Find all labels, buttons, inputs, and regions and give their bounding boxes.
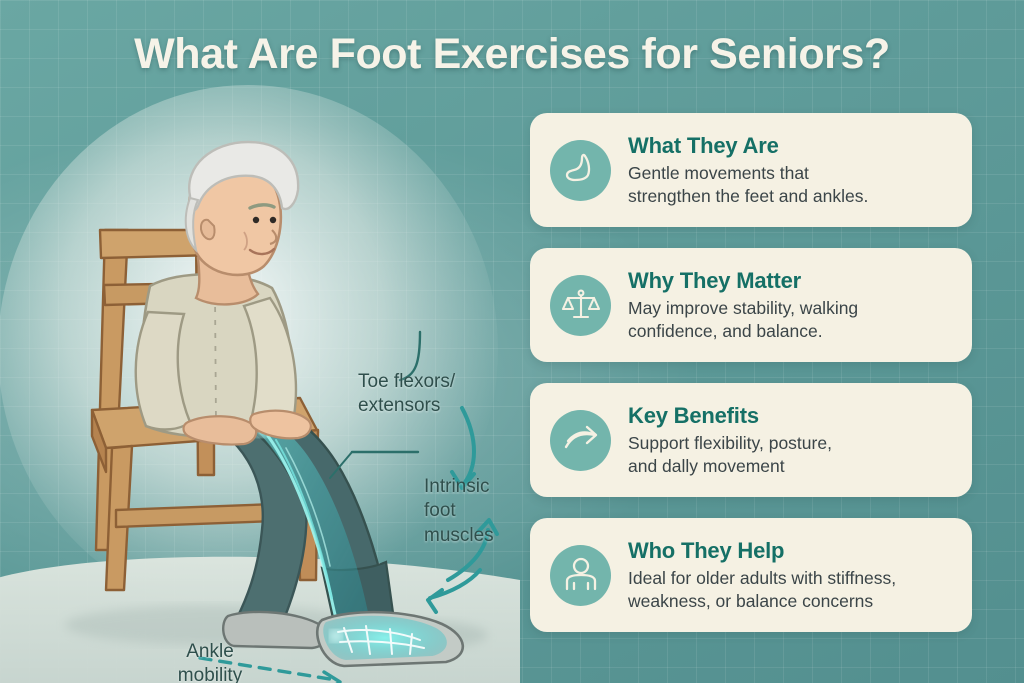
card-body-line1: Gentle movements that <box>628 162 954 184</box>
card-body-line2: and dally movement <box>628 455 954 477</box>
card-body: May improve stability, walking confidenc… <box>628 297 954 341</box>
annotation-intrinsic-line1: Intrinsic <box>424 475 520 499</box>
card-body-line2: confidence, and balance. <box>628 320 954 342</box>
annotation-intrinsic-foot-muscles: Intrinsic foot muscles <box>424 475 520 548</box>
card-title: Key Benefits <box>628 403 954 429</box>
person-icon <box>550 545 611 606</box>
info-card-who-they-help[interactable]: Who They Help Ideal for older adults wit… <box>530 518 972 632</box>
annotation-intrinsic-line3: muscles <box>424 524 520 548</box>
card-body: Ideal for older adults with stiffness, w… <box>628 567 954 611</box>
info-card-list: What They Are Gentle movements that stre… <box>530 113 972 653</box>
annotation-ankle-mobility: Ankle mobility <box>150 640 270 683</box>
page-title: What Are Foot Exercises for Seniors? <box>0 30 1024 79</box>
illustration-panel: Toe flexors/ extensors Intrinsic foot mu… <box>0 80 520 683</box>
info-card-key-benefits[interactable]: Key Benefits Support flexibility, postur… <box>530 383 972 497</box>
annotation-ankle-line1: Ankle <box>150 640 270 664</box>
card-body: Support flexibility, posture, and dally … <box>628 432 954 476</box>
card-body-line1: May improve stability, walking <box>628 297 954 319</box>
balance-scale-icon <box>550 275 611 336</box>
card-body-line1: Ideal for older adults with stiffness, <box>628 567 954 589</box>
card-body-line1: Support flexibility, posture, <box>628 432 954 454</box>
card-text: Who They Help Ideal for older adults wit… <box>628 538 954 611</box>
annotation-toe-flexors-line1: Toe flexors/ <box>358 370 498 394</box>
card-text: Key Benefits Support flexibility, postur… <box>628 403 954 476</box>
curved-arrow-icon <box>550 410 611 471</box>
info-card-what-they-are[interactable]: What They Are Gentle movements that stre… <box>530 113 972 227</box>
foot-icon <box>550 140 611 201</box>
annotation-ankle-line2: mobility <box>150 664 270 683</box>
card-text: Why They Matter May improve stability, w… <box>628 268 954 341</box>
annotation-intrinsic-line2: foot <box>424 499 520 523</box>
card-title: What They Are <box>628 133 954 159</box>
card-body: Gentle movements that strengthen the fee… <box>628 162 954 206</box>
card-title: Who They Help <box>628 538 954 564</box>
card-body-line2: strengthen the feet and ankles. <box>628 185 954 207</box>
card-body-line2: weakness, or balance concerns <box>628 590 954 612</box>
card-title: Why They Matter <box>628 268 954 294</box>
annotation-toe-flexors-line2: extensors <box>358 394 498 418</box>
annotation-toe-flexors: Toe flexors/ extensors <box>358 370 498 419</box>
card-text: What They Are Gentle movements that stre… <box>628 133 954 206</box>
info-card-why-they-matter[interactable]: Why They Matter May improve stability, w… <box>530 248 972 362</box>
